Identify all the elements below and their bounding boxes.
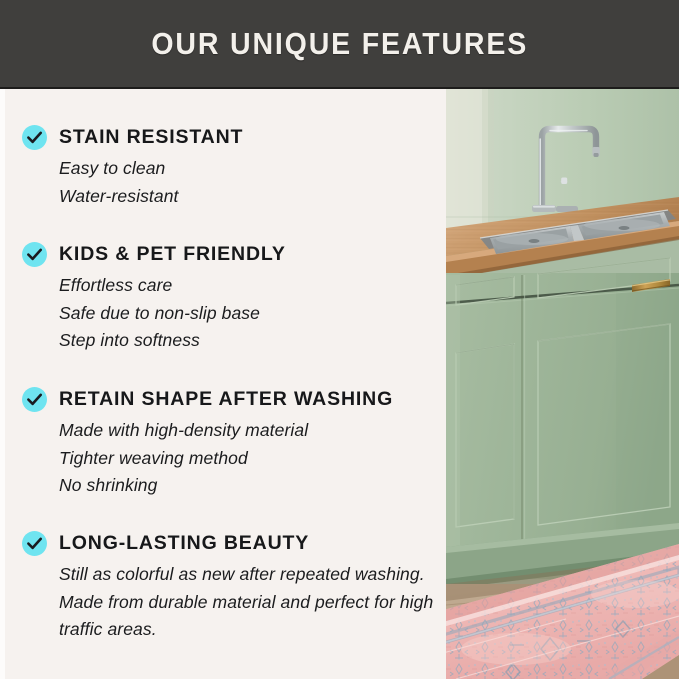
check-circle-icon xyxy=(22,125,47,150)
features-infographic: OUR UNIQUE FEATURES STAIN RESISTANT Eas xyxy=(0,0,679,679)
check-circle-icon xyxy=(22,242,47,267)
body-area: STAIN RESISTANT Easy to clean Water-resi… xyxy=(0,89,679,679)
feature-item: STAIN RESISTANT Easy to clean Water-resi… xyxy=(22,125,437,210)
feature-line: Water-resistant xyxy=(59,183,437,211)
feature-line-list: Made with high-density material Tighter … xyxy=(22,413,437,500)
feature-line-list: Easy to clean Water-resistant xyxy=(22,151,437,210)
check-circle-icon xyxy=(22,531,47,556)
feature-header: KIDS & PET FRIENDLY xyxy=(22,242,437,268)
feature-line: No shrinking xyxy=(59,472,437,500)
feature-line: Easy to clean xyxy=(59,155,437,183)
feature-title: LONG-LASTING BEAUTY xyxy=(22,531,437,555)
page-title: OUR UNIQUE FEATURES xyxy=(151,26,528,62)
header-bar: OUR UNIQUE FEATURES xyxy=(0,0,679,89)
kitchen-with-pink-rug-photo xyxy=(446,89,679,679)
feature-line-list: Effortless care Safe due to non-slip bas… xyxy=(22,268,437,355)
check-circle-icon xyxy=(22,387,47,412)
feature-item: RETAIN SHAPE AFTER WASHING Made with hig… xyxy=(22,387,437,500)
feature-title: RETAIN SHAPE AFTER WASHING xyxy=(22,387,437,411)
feature-line: Step into softness xyxy=(59,327,437,355)
feature-title: KIDS & PET FRIENDLY xyxy=(22,242,437,266)
feature-line: Tighter weaving method xyxy=(59,445,437,473)
feature-header: RETAIN SHAPE AFTER WASHING xyxy=(22,387,437,413)
feature-header: LONG-LASTING BEAUTY xyxy=(22,531,437,557)
feature-header: STAIN RESISTANT xyxy=(22,125,437,151)
feature-title: STAIN RESISTANT xyxy=(22,125,437,149)
feature-line: Made with high-density material xyxy=(59,417,437,445)
features-panel: STAIN RESISTANT Easy to clean Water-resi… xyxy=(0,89,446,679)
feature-line: Effortless care xyxy=(59,272,437,300)
feature-line: Safe due to non-slip base xyxy=(59,300,437,328)
feature-paragraph: Still as colorful as new after repeated … xyxy=(22,557,434,644)
feature-item: LONG-LASTING BEAUTY Still as colorful as… xyxy=(22,531,437,644)
feature-item: KIDS & PET FRIENDLY Effortless care Safe… xyxy=(22,242,437,355)
